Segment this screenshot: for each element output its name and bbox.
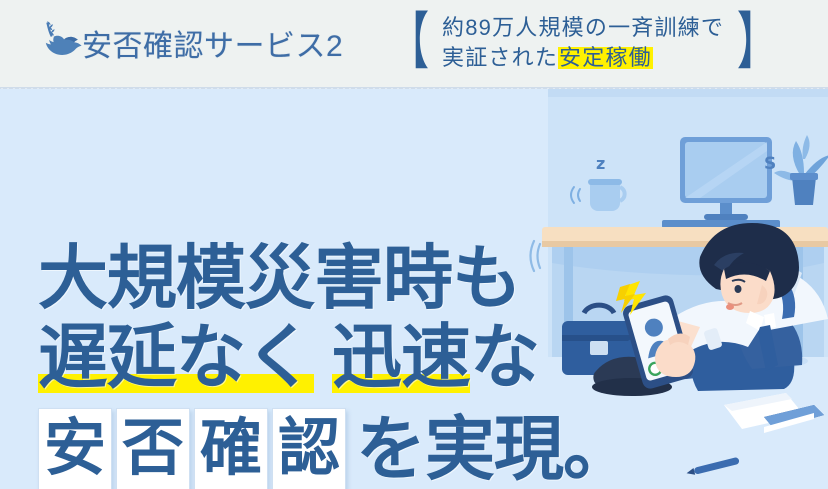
svg-text:z: z <box>596 154 605 173</box>
boxed-char-3: 確 <box>194 408 268 489</box>
boxed-char-4: 認 <box>272 408 346 489</box>
headline-underline-2: 迅速 <box>332 320 470 394</box>
tagline-line-2: 実証された安定稼働 <box>442 44 724 71</box>
boxed-char-1: 安 <box>38 408 112 489</box>
tagline: 【 約89万人規模の一斉訓練で 実証された安定稼働 】 <box>378 12 788 72</box>
svg-text:S: S <box>764 154 776 174</box>
header-bar: 安否確認サービス2 【 約89万人規模の一斉訓練で 実証された安定稼働 】 <box>0 0 828 89</box>
page-title: 大規模災害時も 遅延なく 迅速 な 安 否 確 認 を実現。 <box>38 241 632 489</box>
tagline-highlight: 安定稼働 <box>558 45 653 70</box>
logo[interactable]: 安否確認サービス2 <box>34 19 343 67</box>
tagline-line-1: 約89万人規模の一斉訓練で <box>442 14 724 41</box>
dove-olive-branch-icon <box>34 19 84 67</box>
hero-banner: 安否確認サービス2 【 約89万人規模の一斉訓練で 実証された安定稼働 】 <box>0 0 828 489</box>
headline-underline-1: 遅延なく <box>38 320 314 394</box>
boxed-char-2: 否 <box>116 408 190 489</box>
headline-line-2: 遅延なく 迅速 な <box>38 320 632 394</box>
tagline-line-2-prefix: 実証された <box>442 45 558 70</box>
headline-line-1: 大規模災害時も <box>38 241 632 315</box>
headline-line-1-text: 大規模災害時も <box>38 241 521 315</box>
headline-line-3: 安 否 確 認 を実現。 <box>38 408 632 489</box>
bracket-left-icon: 【 <box>389 12 429 72</box>
hero-section: z S <box>0 89 828 489</box>
headline-line-2-tail: な <box>470 320 539 394</box>
bracket-right-icon: 】 <box>737 12 777 72</box>
logo-text: 安否確認サービス2 <box>82 21 343 65</box>
headline-line-3-tail: を実現。 <box>356 412 632 486</box>
